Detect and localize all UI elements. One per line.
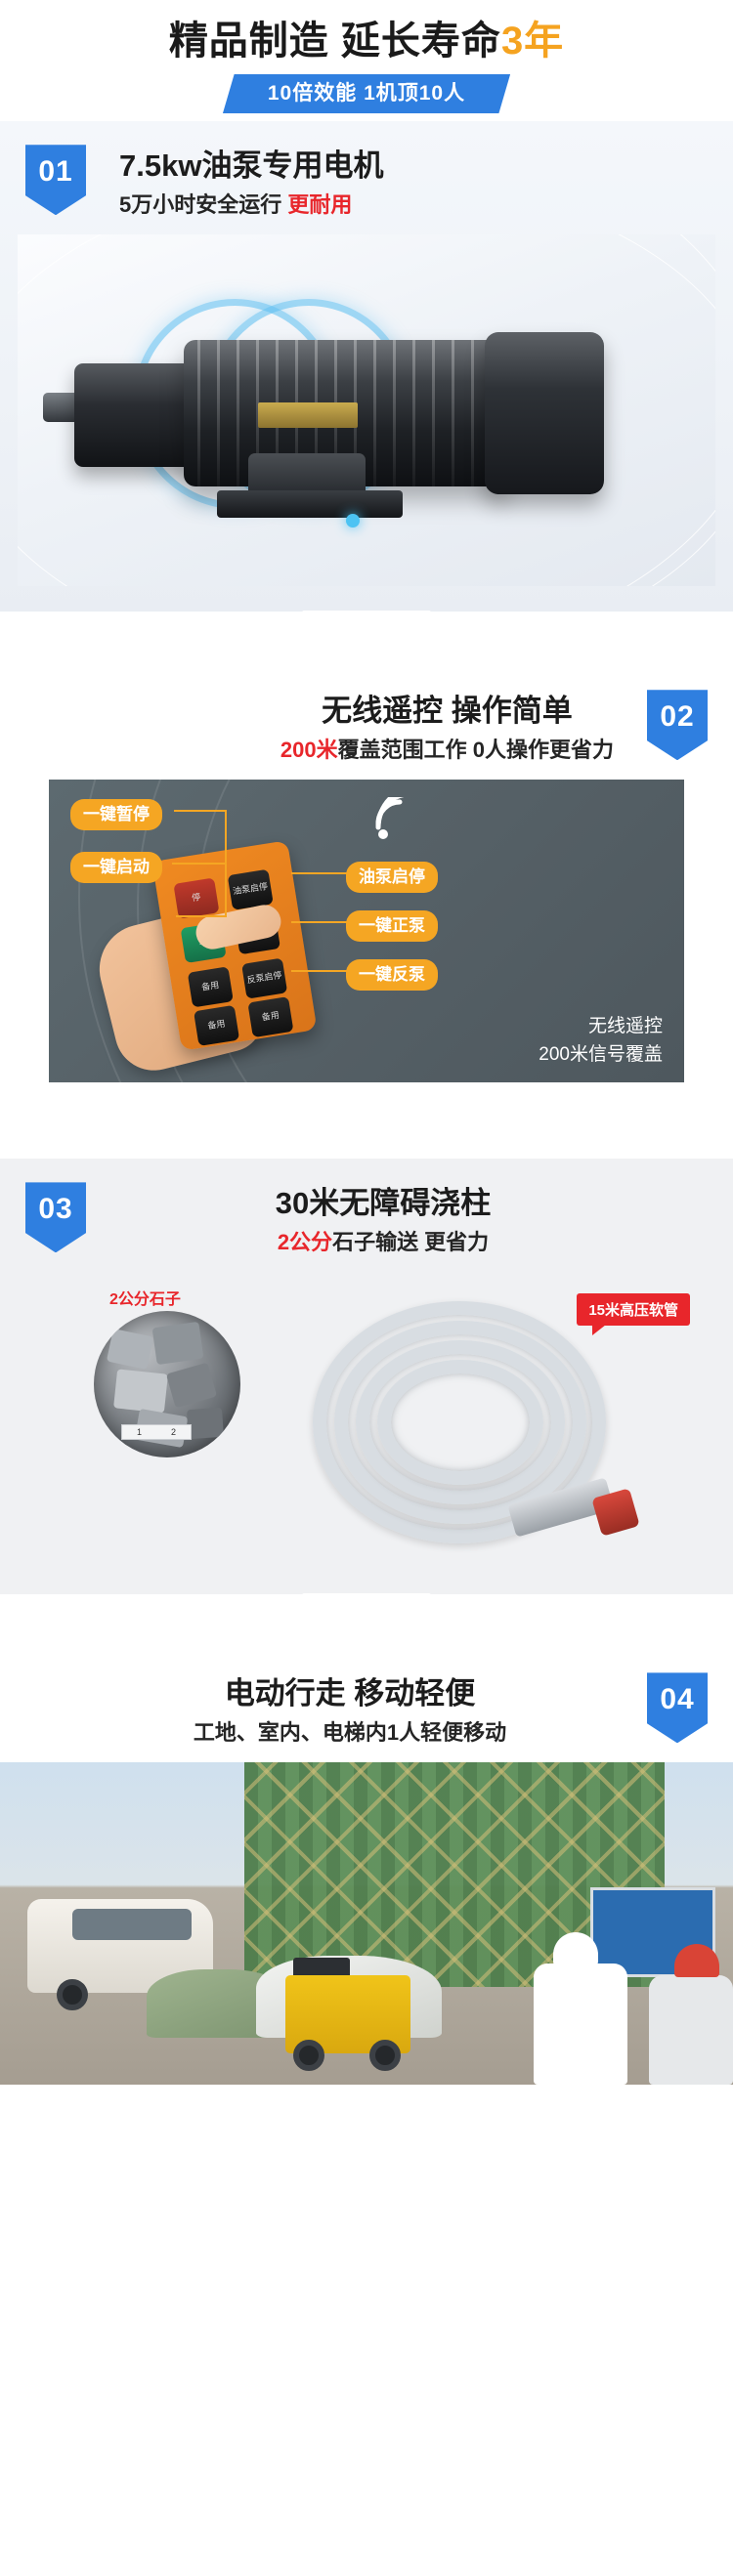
section-04-badge: 04 xyxy=(647,1672,708,1743)
callout-leader-line xyxy=(291,872,348,874)
section-01-sub-accent: 更耐用 xyxy=(287,192,352,217)
page-header: 精品制造 延长寿命3年 10倍效能 1机顶10人 xyxy=(0,0,733,121)
hose-coil-ring xyxy=(377,1360,543,1485)
machine-wheel xyxy=(293,2040,324,2071)
callout-reverse-pump: 一键反泵 xyxy=(346,959,438,991)
wifi-signal-icon xyxy=(375,797,428,840)
callout-start: 一键启动 xyxy=(70,852,162,883)
section-01-head: 01 7.5kw油泵专用电机 5万小时安全运行 更耐用 xyxy=(0,121,733,234)
callout-leader-line xyxy=(172,863,227,865)
section-04-sub-plain: 工地、室内、电梯内 xyxy=(194,1720,387,1745)
section-divider-arrow xyxy=(0,612,733,666)
section-04-title: 电动行走 移动轻便 xyxy=(86,1674,614,1712)
callout-forward-pump: 一键正泵 xyxy=(346,910,438,942)
hose-coil: 15米高压软管 xyxy=(237,1286,696,1547)
worker-right xyxy=(649,1975,733,2085)
product-detail-page: 精品制造 延长寿命3年 10倍效能 1机顶10人 01 7.5kw油泵专用电机 … xyxy=(0,0,733,2085)
callout-pump-toggle: 油泵启停 xyxy=(346,862,438,893)
remote-key-spare-1[interactable]: 备用 xyxy=(188,967,234,1008)
callout-leader-line xyxy=(291,921,348,923)
section-02-head: 无线遥控 操作简单 200米覆盖范围工作 0人操作更省力 02 xyxy=(0,666,733,780)
oil-pump-housing xyxy=(74,363,199,467)
header-ribbon: 10倍效能 1机顶10人 xyxy=(223,74,510,113)
section-03-sub-plain: 石子输送 更省力 xyxy=(332,1230,489,1254)
section-02-sub-plain: 覆盖范围工作 0人操作更省力 xyxy=(338,738,614,762)
remote-caption: 无线遥控 200米信号覆盖 xyxy=(539,1013,663,1069)
motor-end-cap xyxy=(485,332,604,494)
section-04-sub: 工地、室内、电梯内1人轻便移动 xyxy=(86,1716,614,1749)
remote-control-photo: 停 油泵启停 动 正泵启停 备用 反泵启停 备用 备用 一键暂停 一键启动 油泵… xyxy=(49,780,684,1082)
callout-pause: 一键暂停 xyxy=(70,799,162,830)
page-title: 精品制造 延长寿命3年 xyxy=(0,18,733,64)
header-ribbon-wrap: 10倍效能 1机顶10人 xyxy=(0,74,733,113)
section-02-sub-accent: 200米 xyxy=(280,738,338,762)
section-03-sub-accent: 2公分 xyxy=(278,1230,332,1254)
section-01-head-text: 7.5kw油泵专用电机 5万小时安全运行 更耐用 xyxy=(119,145,383,221)
section-02-remote: 无线遥控 操作简单 200米覆盖范围工作 0人操作更省力 02 停 油泵启 xyxy=(0,666,733,1104)
section-03-head: 03 30米无障碍浇柱 2公分石子输送 更省力 xyxy=(0,1159,733,1272)
worker-center xyxy=(534,1964,627,2085)
ruler-mark-1: 1 xyxy=(137,1427,142,1437)
callout-leader-line xyxy=(174,810,227,812)
remote-key-stop[interactable]: 停 xyxy=(173,878,219,919)
section-01-motor: 01 7.5kw油泵专用电机 5万小时安全运行 更耐用 xyxy=(0,121,733,612)
callout-leader-line xyxy=(225,863,227,917)
remote-key-reverse-pump[interactable]: 反泵启停 xyxy=(241,958,287,999)
section-02-title: 无线遥控 操作简单 xyxy=(280,692,614,730)
section-03-head-text: 30米无障碍浇柱 2公分石子输送 更省力 xyxy=(119,1182,647,1258)
section-01-sub-plain: 5万小时安全运行 xyxy=(119,192,287,217)
section-02-badge: 02 xyxy=(647,690,708,760)
van-window xyxy=(72,1909,192,1940)
van-wheel xyxy=(57,1979,88,2010)
motor-base-feet xyxy=(217,490,403,518)
callout-leader-line xyxy=(291,970,348,972)
section-01-badge: 01 xyxy=(25,145,86,215)
page-title-main: 精品制造 延长寿命 xyxy=(169,20,501,63)
ruler-scale: 1 2 xyxy=(121,1424,192,1440)
construction-site-photo xyxy=(0,1762,733,2085)
section-02-head-text: 无线遥控 操作简单 200米覆盖范围工作 0人操作更省力 xyxy=(280,690,614,766)
remote-caption-line1: 无线遥控 xyxy=(539,1013,663,1041)
section-04-sub-accent: 1人轻便移动 xyxy=(387,1720,506,1745)
section-04-mobility: 电动行走 移动轻便 工地、室内、电梯内1人轻便移动 04 xyxy=(0,1649,733,2085)
page-title-accent: 3年 xyxy=(501,20,564,63)
hose-photo: 2公分石子 1 2 15米高压软管 xyxy=(29,1272,704,1565)
section-03-sub: 2公分石子输送 更省力 xyxy=(119,1226,647,1258)
machine-wheel xyxy=(369,2040,401,2071)
section-04-head-text: 电动行走 移动轻便 工地、室内、电梯内1人轻便移动 xyxy=(86,1672,614,1749)
callout-leader-line xyxy=(176,915,227,917)
section-01-title: 7.5kw油泵专用电机 xyxy=(119,147,383,185)
section-03-title: 30米无障碍浇柱 xyxy=(119,1184,647,1222)
section-03-hose: 03 30米无障碍浇柱 2公分石子输送 更省力 2公分石子 1 2 xyxy=(0,1159,733,1594)
motor-nameplate xyxy=(258,402,358,428)
section-03-badge: 03 xyxy=(25,1182,86,1252)
remote-key-spare-3[interactable]: 备用 xyxy=(247,996,293,1037)
hose-length-badge: 15米高压软管 xyxy=(577,1293,690,1326)
section-04-head: 电动行走 移动轻便 工地、室内、电梯内1人轻便移动 04 xyxy=(0,1649,733,1762)
remote-key-spare-2[interactable]: 备用 xyxy=(194,1005,239,1046)
motor-photo xyxy=(18,234,715,586)
section-01-sub: 5万小时安全运行 更耐用 xyxy=(119,189,383,221)
section-02-sub: 200米覆盖范围工作 0人操作更省力 xyxy=(280,734,614,766)
section-divider-arrow xyxy=(0,1594,733,1649)
ruler-mark-2: 2 xyxy=(171,1427,176,1437)
stone-label: 2公分石子 xyxy=(109,1286,181,1309)
remote-caption-line2: 200米信号覆盖 xyxy=(539,1041,663,1070)
section-divider-arrow xyxy=(0,1104,733,1159)
hose-end-fitting xyxy=(591,1489,639,1537)
